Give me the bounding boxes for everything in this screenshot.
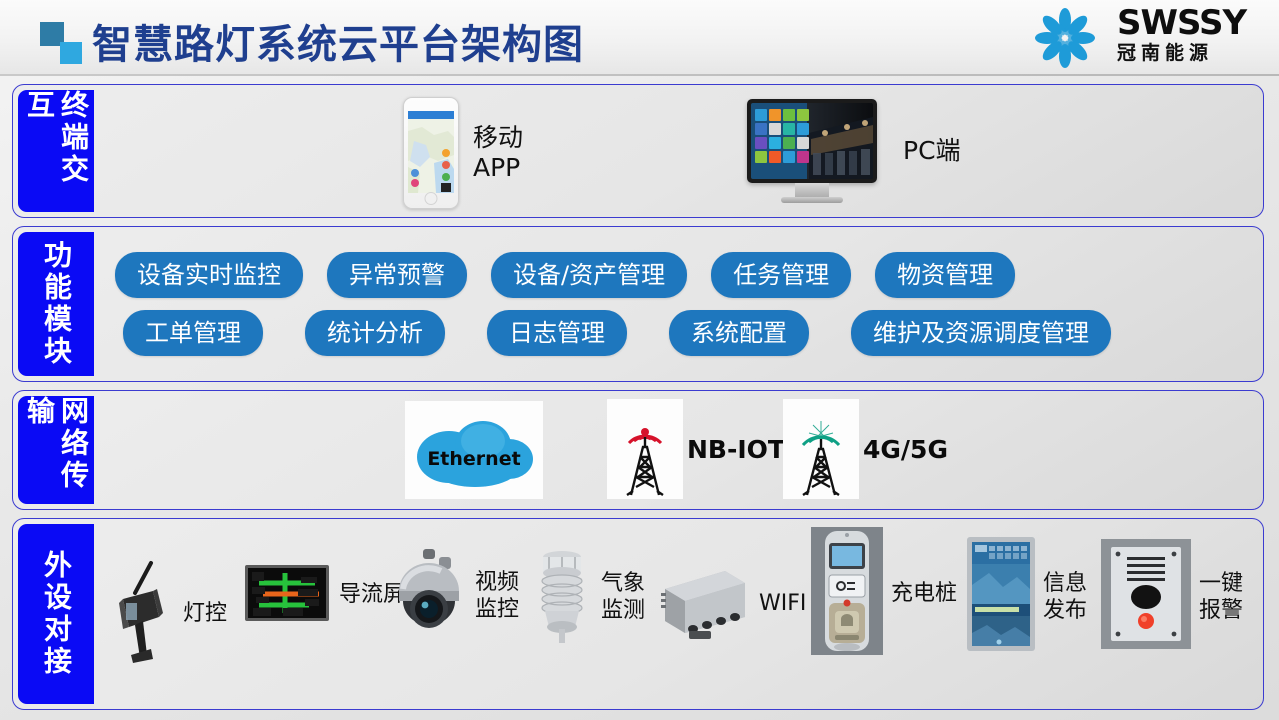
device-label-emergency-alarm: 一键 报警 bbox=[1199, 570, 1243, 624]
device-label-weather-monitoring: 气象 监测 bbox=[601, 570, 645, 624]
network-label-nbiot: NB-IOT bbox=[687, 435, 785, 464]
device-label-wifi: WIFI bbox=[759, 590, 806, 617]
module-button-material-management[interactable]: 物资管理 bbox=[875, 252, 1015, 298]
sidebar-item-function-modules[interactable]: 功能模块 bbox=[18, 232, 94, 376]
sidebar-label-device: 外设对接 bbox=[39, 550, 73, 678]
logo-wordmark: SWSSY bbox=[1117, 6, 1246, 40]
device-item-guidance-screen[interactable]: 导流屏 bbox=[243, 561, 405, 628]
module-button-statistics[interactable]: 统计分析 bbox=[305, 310, 445, 356]
device-item-video-surveillance[interactable]: 视频 监控 bbox=[391, 547, 519, 644]
module-button-task-management[interactable]: 任务管理 bbox=[711, 252, 851, 298]
two-squares-icon bbox=[40, 22, 86, 64]
network-item-4g5g[interactable]: 4G/5G bbox=[783, 399, 948, 499]
section-terminal-interaction: 终端交互 bbox=[12, 84, 1264, 218]
network-item-nbiot[interactable]: NB-IOT bbox=[607, 399, 785, 499]
emergency-alarm-icon bbox=[1101, 539, 1191, 654]
device-item-info-display[interactable]: 信息 发布 bbox=[967, 537, 1087, 656]
desktop-monitor-icon bbox=[747, 99, 877, 203]
guidance-screen-icon bbox=[243, 561, 331, 628]
sidebar-label-network: 网络传输 bbox=[22, 396, 90, 504]
water-droplet-petals-icon bbox=[1017, 6, 1113, 70]
device-label-video-surveillance: 视频 监控 bbox=[475, 569, 519, 623]
section-network-transmission: 网络传输 Ethernet bbox=[12, 390, 1264, 510]
signal-tower-teal-icon bbox=[783, 399, 859, 499]
page-header: 智慧路灯系统云平台架构图 bbox=[0, 0, 1279, 76]
terminal-label-pc: PC端 bbox=[903, 136, 961, 166]
charging-pile-icon bbox=[811, 527, 883, 660]
sidebar-item-peripheral-docking[interactable]: 外设对接 bbox=[18, 524, 94, 704]
network-item-ethernet[interactable]: Ethernet bbox=[405, 401, 543, 499]
sidebar-item-network-transmission[interactable]: 网络传输 bbox=[18, 396, 94, 504]
lamp-controller-icon bbox=[109, 559, 175, 668]
device-item-wifi[interactable]: WIFI bbox=[655, 563, 806, 644]
section-peripheral-docking: 外设对接 灯控 bbox=[12, 518, 1264, 710]
device-label-info-display: 信息 发布 bbox=[1043, 570, 1087, 624]
sidebar-label-function: 功能模块 bbox=[39, 240, 73, 368]
sidebar-label-terminal: 终端交互 bbox=[22, 90, 90, 212]
logo-subtitle: 冠南能源 bbox=[1117, 44, 1246, 64]
device-item-weather-monitoring[interactable]: 气象 监测 bbox=[531, 541, 645, 652]
signal-tower-red-icon bbox=[607, 399, 683, 499]
terminal-item-mobile-app[interactable]: 移动 APP bbox=[403, 97, 523, 209]
svg-text:Ethernet: Ethernet bbox=[427, 448, 520, 470]
device-item-lamp-controller[interactable]: 灯控 bbox=[109, 559, 227, 668]
module-button-work-order[interactable]: 工单管理 bbox=[123, 310, 263, 356]
device-item-charging-pile[interactable]: 充电桩 bbox=[811, 527, 957, 660]
module-button-log-management[interactable]: 日志管理 bbox=[487, 310, 627, 356]
terminal-label-mobile-app: 移动 APP bbox=[473, 123, 523, 183]
device-label-lamp-controller: 灯控 bbox=[183, 600, 227, 627]
smartphone-map-icon bbox=[403, 97, 459, 209]
weather-station-icon bbox=[531, 541, 593, 652]
module-button-maintenance-dispatch[interactable]: 维护及资源调度管理 bbox=[851, 310, 1111, 356]
company-logo: SWSSY 冠南能源 bbox=[1017, 4, 1267, 72]
module-button-anomaly-alert[interactable]: 异常预警 bbox=[327, 252, 467, 298]
module-button-realtime-monitor[interactable]: 设备实时监控 bbox=[115, 252, 303, 298]
ptz-camera-icon bbox=[391, 547, 467, 644]
terminal-item-pc[interactable]: PC端 bbox=[747, 99, 961, 203]
wifi-box-icon bbox=[655, 563, 751, 644]
module-button-system-config[interactable]: 系统配置 bbox=[669, 310, 809, 356]
cloud-icon: Ethernet bbox=[405, 401, 543, 499]
module-button-asset-management[interactable]: 设备/资产管理 bbox=[491, 252, 687, 298]
sidebar-item-terminal-interaction[interactable]: 终端交互 bbox=[18, 90, 94, 212]
page-title: 智慧路灯系统云平台架构图 bbox=[92, 12, 584, 70]
device-item-emergency-alarm[interactable]: 一键 报警 bbox=[1101, 539, 1243, 654]
info-display-icon bbox=[967, 537, 1035, 656]
network-label-4g5g: 4G/5G bbox=[863, 435, 948, 464]
section-function-modules: 功能模块 设备实时监控 异常预警 设备/资产管理 任务管理 物资管理 工单管理 … bbox=[12, 226, 1264, 382]
device-label-charging-pile: 充电桩 bbox=[891, 580, 957, 607]
